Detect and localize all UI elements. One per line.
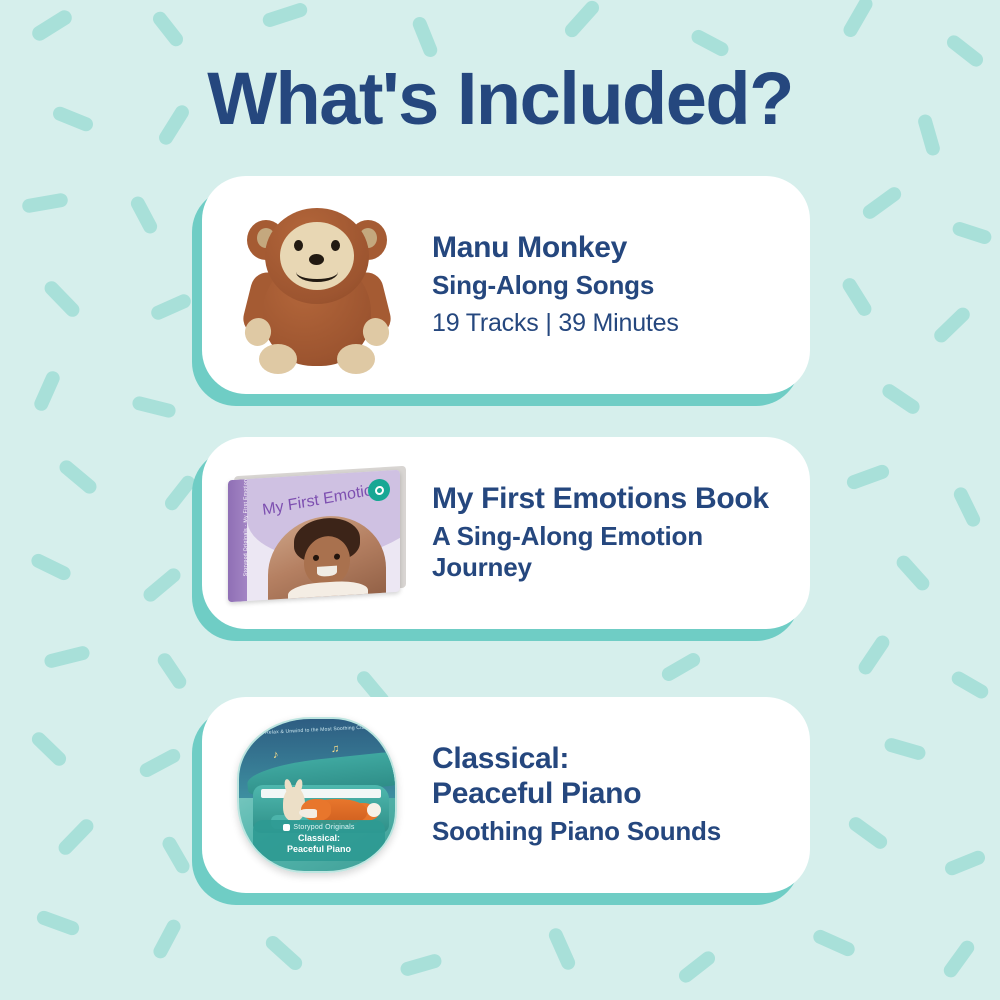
confetti-dash — [29, 729, 69, 768]
confetti-dash — [659, 650, 702, 683]
confetti-dash — [21, 192, 69, 214]
confetti-dash — [931, 305, 972, 346]
confetti-dash — [856, 633, 892, 677]
confetti-dash — [846, 814, 890, 851]
confetti-dash — [155, 651, 189, 692]
confetti-dash — [562, 0, 602, 40]
product-card-my-first-emotions-book[interactable]: Storypod Originals · My First Emotions M… — [202, 437, 810, 629]
confetti-dash — [57, 457, 100, 496]
confetti-dash — [35, 909, 81, 937]
confetti-dash — [29, 552, 73, 583]
confetti-dash — [261, 1, 309, 29]
card-subtitle: Sing-Along Songs — [432, 270, 786, 302]
confetti-dash — [399, 952, 443, 977]
product-card-manu-monkey[interactable]: Manu Monkey Sing-Along Songs 19 Tracks |… — [202, 176, 810, 394]
confetti-dash — [941, 938, 977, 980]
confetti-dash — [263, 933, 305, 973]
confetti-dash — [56, 816, 97, 857]
confetti-dash — [160, 834, 192, 876]
storypod-originals-brand: Storypod Originals — [255, 824, 383, 831]
confetti-dash — [943, 849, 987, 878]
monkey-plush-image — [202, 176, 432, 394]
confetti-dash — [840, 275, 874, 318]
confetti-dash — [952, 485, 983, 529]
confetti-dash — [137, 746, 182, 779]
confetti-dash — [141, 565, 184, 604]
confetti-dash — [880, 381, 923, 416]
confetti-dash — [150, 9, 186, 49]
confetti-dash — [841, 0, 875, 40]
confetti-dash — [32, 369, 62, 413]
confetti-dash — [951, 220, 993, 246]
confetti-dash — [689, 27, 731, 58]
confetti-dash — [883, 736, 927, 761]
confetti-dash — [811, 928, 857, 959]
card-title: My First Emotions Book — [432, 482, 786, 517]
book-spine-text: Storypod Originals · My First Emotions — [243, 476, 249, 576]
confetti-dash — [43, 645, 91, 670]
confetti-dash — [949, 669, 991, 701]
confetti-dash — [29, 7, 74, 43]
product-card-classical-peaceful-piano[interactable]: Relax & Unwind to the Most Soothing Clas… — [202, 697, 810, 893]
brand-label: Storypod Originals — [293, 824, 354, 831]
card-title: Classical:Peaceful Piano — [432, 742, 786, 812]
craftie-name: Classical:Peaceful Piano — [255, 833, 383, 856]
confetti-dash — [411, 15, 440, 59]
page-title: What's Included? — [0, 56, 1000, 141]
confetti-dash — [151, 917, 183, 961]
card-subtitle: A Sing-Along Emotion Journey — [432, 521, 786, 584]
peaceful-piano-craftie-image: Relax & Unwind to the Most Soothing Clas… — [202, 697, 432, 893]
confetti-dash — [860, 184, 904, 221]
confetti-dash — [845, 463, 891, 491]
confetti-dash — [131, 395, 177, 419]
confetti-dash — [42, 278, 83, 319]
card-meta: 19 Tracks | 39 Minutes — [432, 308, 786, 339]
confetti-dash — [149, 292, 193, 322]
confetti-dash — [547, 926, 578, 972]
confetti-dash — [894, 553, 933, 594]
storypod-logo-icon — [283, 824, 290, 831]
confetti-dash — [676, 949, 718, 986]
card-title: Manu Monkey — [432, 231, 786, 266]
confetti-dash — [128, 194, 159, 236]
card-subtitle: Soothing Piano Sounds — [432, 816, 786, 848]
emotions-book-image: Storypod Originals · My First Emotions M… — [202, 437, 432, 629]
